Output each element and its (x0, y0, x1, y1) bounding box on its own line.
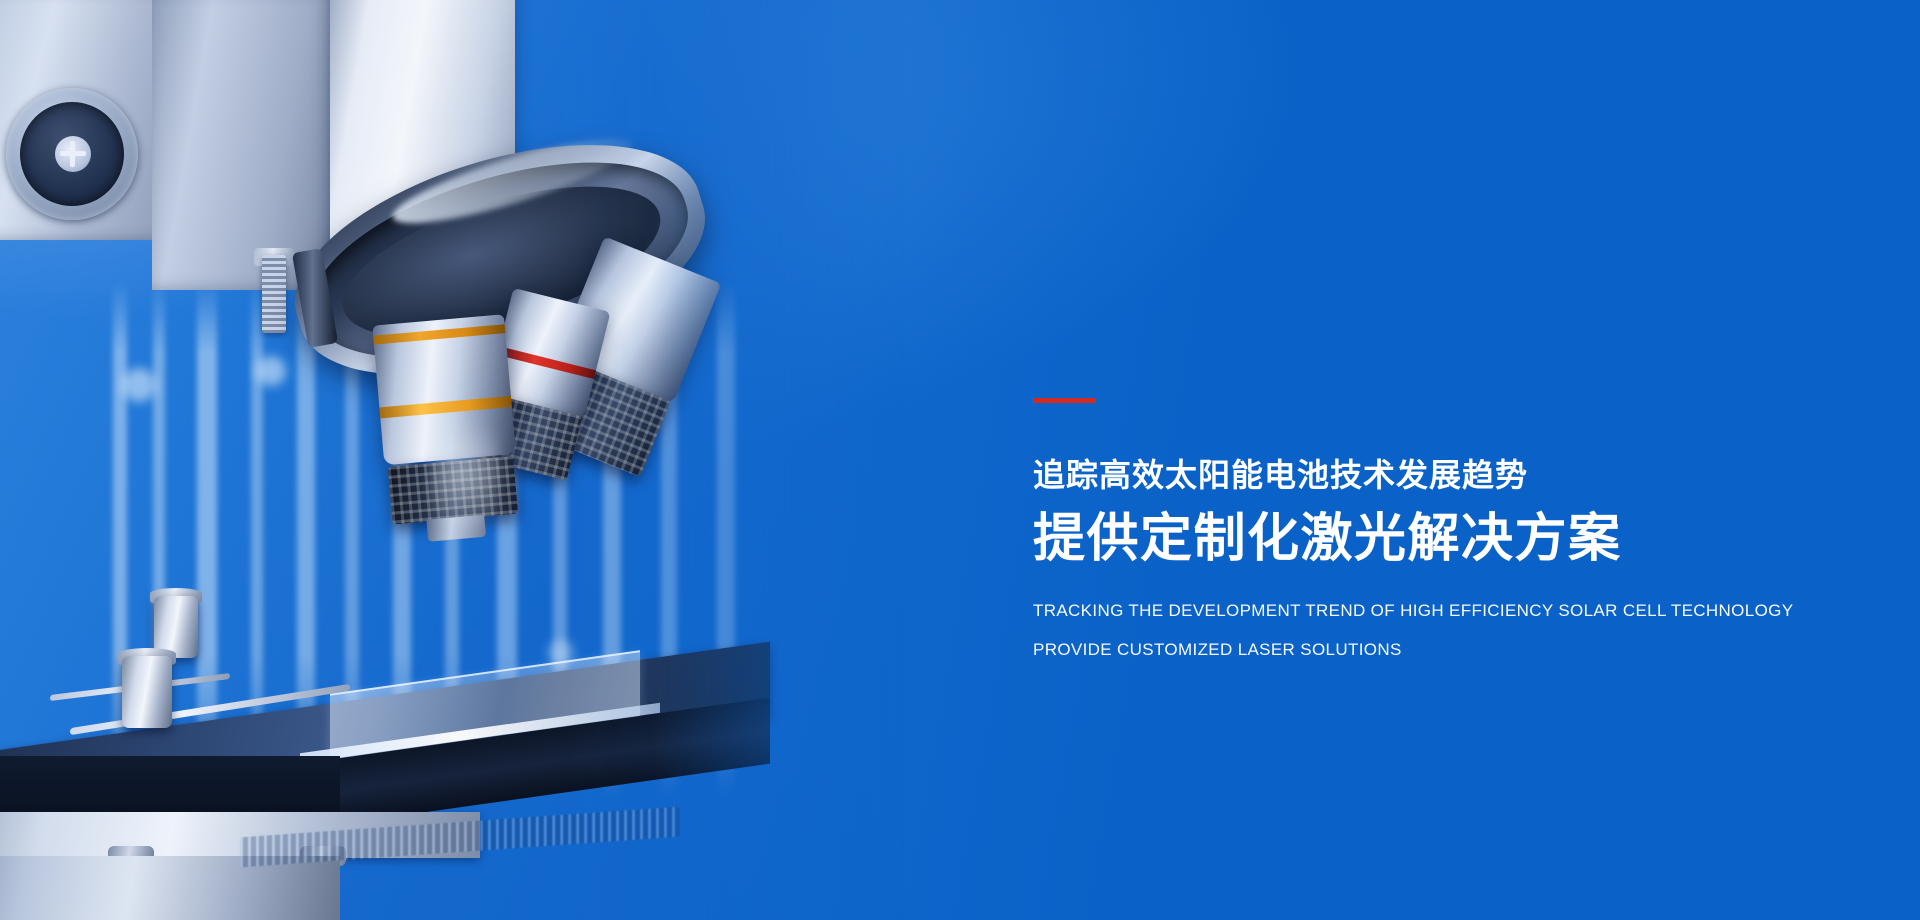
slide-clip-arm (50, 668, 350, 728)
accent-rule (1033, 398, 1096, 403)
bokeh-dot (256, 356, 286, 386)
microscope-body-column (152, 0, 342, 290)
microscope-base-body (0, 856, 340, 920)
hero-banner: 追踪高效太阳能电池技术发展趋势 提供定制化激光解决方案 TRACKING THE… (0, 0, 1920, 920)
banner-subtitle: 追踪高效太阳能电池技术发展趋势 (1033, 457, 1833, 495)
banner-english-line-2: PROVIDE CUSTOMIZED LASER SOLUTIONS (1033, 641, 1833, 660)
microscope-photo (0, 0, 905, 920)
focus-knob-inner (20, 102, 124, 206)
focus-knob (6, 88, 138, 220)
banner-headline: 提供定制化激光解决方案 (1033, 511, 1833, 568)
lens-glare (430, 400, 500, 550)
phillips-screw-icon (55, 136, 91, 172)
adjust-screw (262, 255, 286, 333)
banner-copy: 追踪高效太阳能电池技术发展趋势 提供定制化激光解决方案 TRACKING THE… (1033, 398, 1833, 659)
bokeh-dot (122, 368, 156, 402)
banner-english-line-1: TRACKING THE DEVELOPMENT TREND OF HIGH E… (1033, 602, 1833, 621)
base-shadow (0, 756, 340, 814)
clip-post-lower (122, 656, 172, 728)
